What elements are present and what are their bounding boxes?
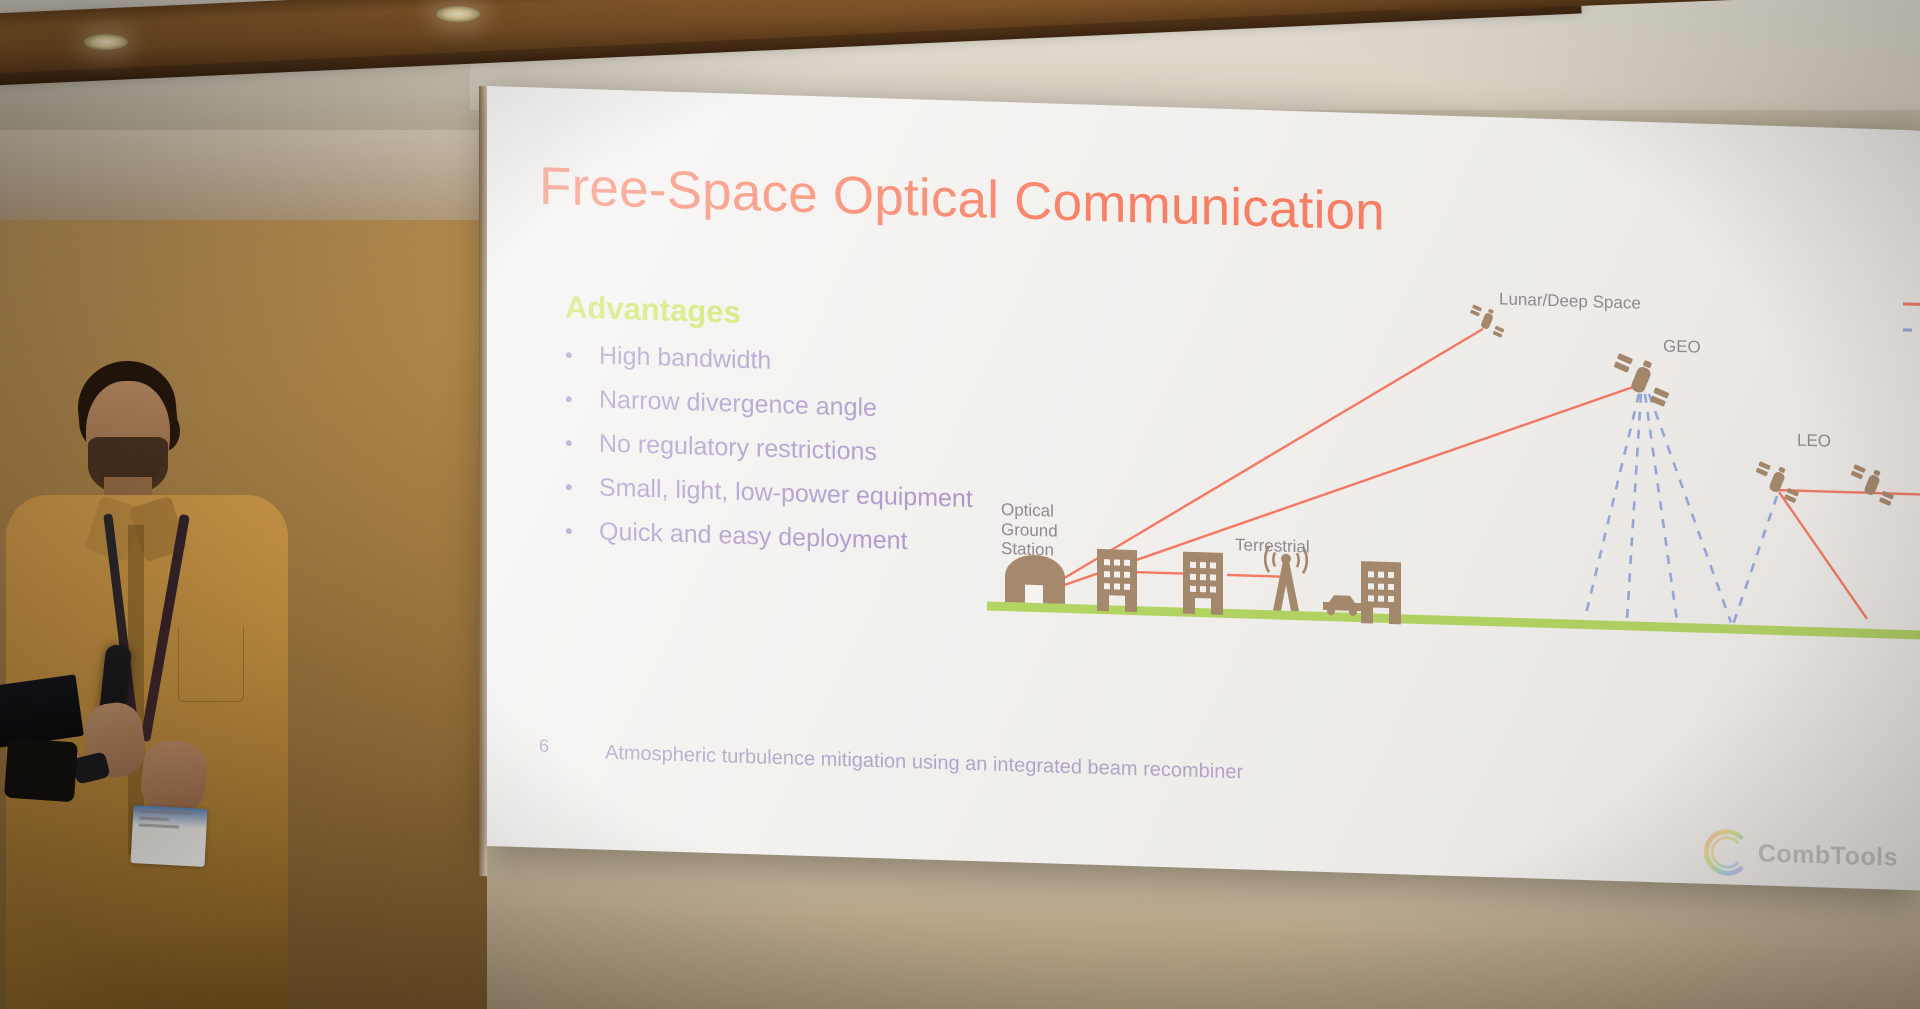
screenshot-root: Free-Space Optical Communication Advanta… — [0, 0, 1920, 1009]
building-1 — [1097, 549, 1137, 612]
diagram-label-geo: GEO — [1663, 336, 1701, 357]
fso-scenario-diagram: Lunar/Deep Space GEO LEO Optical Ground … — [987, 262, 1920, 692]
diagram-label-leo: LEO — [1797, 431, 1831, 452]
building-2 — [1183, 552, 1223, 615]
slide-page-number: 6 — [539, 736, 549, 757]
speaker-shirt-pocket — [178, 627, 244, 702]
bullet-marker-icon: • — [565, 432, 599, 455]
slide-running-title: Atmospheric turbulence mitigation using … — [605, 742, 1243, 785]
diagram-legend — [1903, 304, 1920, 331]
laptop — [0, 674, 84, 747]
speaker-name-badge — [131, 805, 208, 867]
bullet-marker-icon: • — [565, 344, 599, 367]
projection-screen: Free-Space Optical Communication Advanta… — [487, 86, 1920, 890]
solid-optical-links — [1039, 315, 1920, 621]
bullet-label: High bandwidth — [599, 341, 771, 375]
rainbow-ring-icon — [1702, 826, 1754, 880]
bullet-marker-icon: • — [565, 476, 599, 499]
diagram-label-optical-ground-station: Optical Ground Station — [1001, 500, 1058, 560]
slide-title: Free-Space Optical Communication — [539, 156, 1385, 243]
ceiling-downlight-2 — [436, 6, 480, 22]
combtools-logo: CombTools — [1702, 826, 1898, 884]
satellite-leo-2 — [1851, 464, 1895, 506]
optical-ground-station-icon — [1005, 554, 1065, 604]
bullet-marker-icon: • — [565, 520, 599, 543]
diagram-label-terrestrial: Terrestrial — [1235, 535, 1310, 557]
slide-section-heading: Advantages — [565, 289, 741, 330]
chair — [4, 738, 78, 803]
bullet-marker-icon: • — [565, 388, 599, 411]
combtools-logo-text: CombTools — [1758, 839, 1898, 872]
dashed-rf-links — [1585, 392, 1777, 626]
ceiling-downlight-1 — [84, 34, 128, 50]
